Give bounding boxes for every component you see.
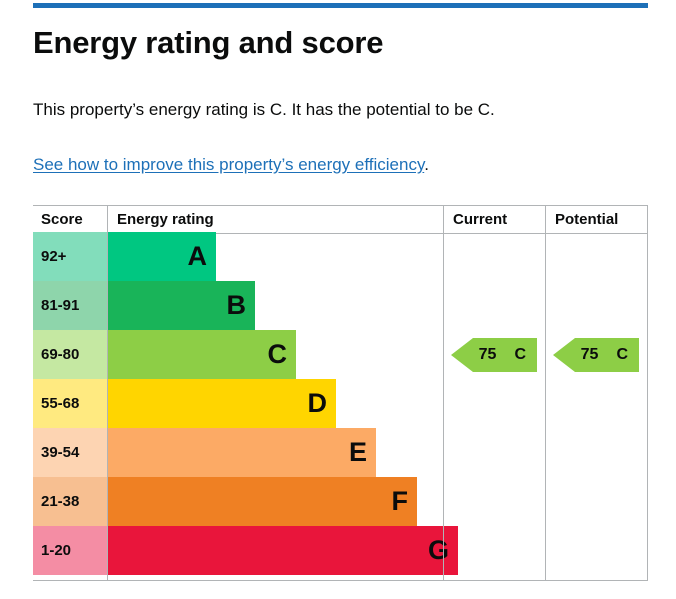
band-letter-a: A [188, 243, 217, 270]
link-trailing-period: . [424, 155, 429, 174]
band-letter-c: C [268, 341, 297, 368]
improve-efficiency-row: See how to improve this property’s energ… [33, 154, 429, 176]
band-score-cell-g: 1-20 [33, 526, 107, 575]
band-bar-g: G [108, 526, 458, 575]
potential-marker-band: C [609, 346, 639, 364]
column-header-current: Current [453, 210, 507, 229]
page-accent-bar [33, 3, 648, 8]
band-bar-b: B [108, 281, 255, 330]
current-marker-score: 75 [479, 346, 508, 364]
band-score-range-g: 1-20 [33, 542, 71, 559]
band-score-range-b: 81-91 [33, 297, 79, 314]
band-letter-d: D [308, 390, 337, 417]
band-score-cell-c: 69-80 [33, 330, 107, 379]
table-body: 92+A81-91B69-80C55-68D39-54E21-38F1-20G7… [33, 232, 648, 581]
band-score-cell-a: 92+ [33, 232, 107, 281]
band-letter-f: F [392, 488, 418, 515]
column-divider-potential [545, 205, 546, 580]
band-score-cell-f: 21-38 [33, 477, 107, 526]
column-divider-current [443, 205, 444, 580]
band-letter-e: E [349, 439, 376, 466]
band-letter-b: B [227, 292, 256, 319]
column-header-score: Score [41, 210, 83, 229]
band-row-d: 55-68D [33, 379, 648, 428]
band-score-range-d: 55-68 [33, 395, 79, 412]
band-row-e: 39-54E [33, 428, 648, 477]
table-right-edge [647, 205, 648, 580]
rating-summary-text: This property’s energy rating is C. It h… [33, 99, 495, 121]
column-header-rating: Energy rating [117, 210, 214, 229]
band-bar-a: A [108, 232, 216, 281]
band-score-range-a: 92+ [33, 248, 66, 265]
band-bar-d: D [108, 379, 336, 428]
band-bar-f: F [108, 477, 417, 526]
band-bar-c: C [108, 330, 296, 379]
band-row-b: 81-91B [33, 281, 648, 330]
band-row-g: 1-20G [33, 526, 648, 575]
column-divider-score [107, 205, 108, 580]
current-marker-band: C [507, 346, 537, 364]
page-title: Energy rating and score [33, 25, 383, 61]
band-score-range-c: 69-80 [33, 346, 79, 363]
energy-rating-table: Score Energy rating Current Potential 92… [33, 205, 648, 580]
band-row-a: 92+A [33, 232, 648, 281]
potential-marker-score: 75 [581, 346, 610, 364]
band-score-cell-b: 81-91 [33, 281, 107, 330]
band-score-cell-e: 39-54 [33, 428, 107, 477]
band-row-f: 21-38F [33, 477, 648, 526]
column-header-potential: Potential [555, 210, 618, 229]
improve-efficiency-link[interactable]: See how to improve this property’s energ… [33, 155, 424, 174]
band-score-cell-d: 55-68 [33, 379, 107, 428]
band-score-range-e: 39-54 [33, 444, 79, 461]
table-header-row: Score Energy rating Current Potential [33, 205, 648, 234]
band-score-range-f: 21-38 [33, 493, 79, 510]
band-bar-e: E [108, 428, 376, 477]
